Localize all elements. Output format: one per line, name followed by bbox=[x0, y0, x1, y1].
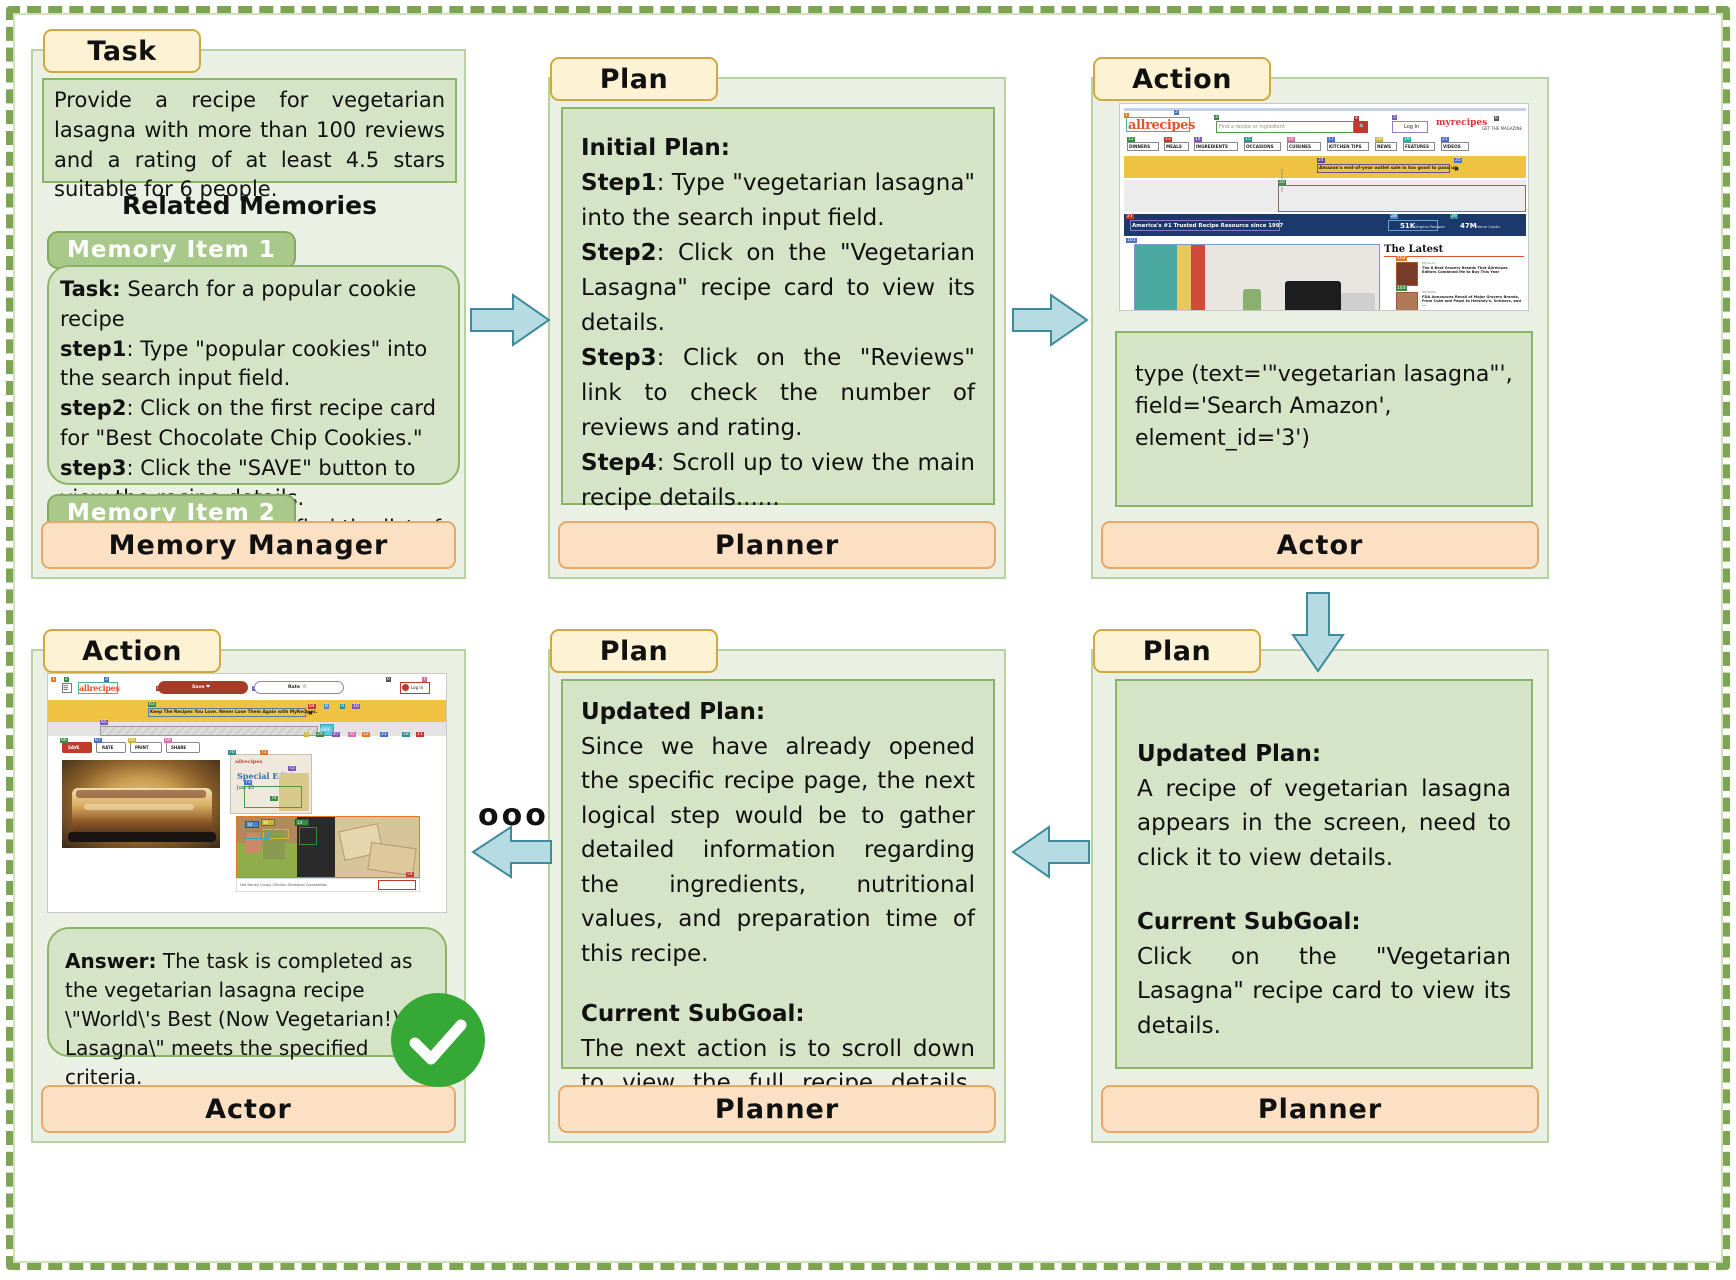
answer-label: Answer: bbox=[65, 949, 157, 973]
screenshot-allrecipes-home[interactable]: 1 2 allrecipes 3 Find a recipe or ingred… bbox=[1119, 103, 1529, 311]
footer-planner-scroll: Planner bbox=[558, 1085, 996, 1133]
recipe-count: 51K bbox=[1400, 222, 1415, 230]
plan-scroll-subgoal-label: Current SubGoal: bbox=[581, 997, 975, 1032]
memory-item-1-chip[interactable]: Memory Item 1 bbox=[47, 231, 296, 269]
task-description-text: Provide a recipe for vegetarian lasagna … bbox=[54, 86, 445, 205]
actor-type-module: Action 1 2 allrecipes 3 Find a recipe or… bbox=[1091, 77, 1549, 579]
memory-1-step-3-label: step3 bbox=[60, 456, 126, 480]
arrow-action-to-plan-down bbox=[1289, 591, 1347, 675]
plan-click-updated-label: Updated Plan: bbox=[1137, 737, 1511, 772]
footer-actor-type: Actor bbox=[1101, 521, 1539, 569]
task-description-panel: Provide a recipe for vegetarian lasagna … bbox=[42, 78, 457, 183]
footer-planner-initial: Planner bbox=[558, 521, 996, 569]
memory-1-step-2-label: step2 bbox=[60, 396, 126, 420]
recipe-count-sub: Original Recipes bbox=[1414, 224, 1445, 229]
arrow-plan3-to-plan2 bbox=[1011, 823, 1091, 881]
plan-scroll-updated-label: Updated Plan: bbox=[581, 695, 975, 730]
tab-action-answer: Action bbox=[43, 629, 221, 673]
initial-plan-heading: Initial Plan: bbox=[581, 131, 975, 166]
annotation-tag: 6 bbox=[1494, 116, 1499, 121]
magazine-logo: myrecipes bbox=[1436, 118, 1487, 128]
memory-item-1-panel: Task: Search for a popular cookie recipe… bbox=[47, 265, 460, 485]
promo-text[interactable]: Amazon's end-of-year outlet sale is too … bbox=[1319, 166, 1459, 171]
star-icon: ☆ bbox=[302, 684, 307, 690]
nav-item[interactable]: NEWS bbox=[1377, 144, 1391, 149]
badge: RECALLS bbox=[1422, 261, 1435, 265]
screenshot-recipe-page[interactable]: 1 2 ☰ 3 allrecipes 4 Save ❤ 5 Rate ☆ 6 7… bbox=[47, 673, 447, 913]
tab-plan-initial: Plan bbox=[550, 57, 718, 101]
initial-plan-step-1: Step1: Type "vegetarian lasagna" into th… bbox=[581, 166, 975, 236]
related-memories-heading: Related Memories bbox=[42, 191, 457, 220]
memory-1-task-label: Task: bbox=[60, 277, 121, 301]
plan-click-subgoal-text: Click on the "Vegetarian Lasagna" recipe… bbox=[1137, 940, 1511, 1044]
ad-caption: Hot Honey Crispy Chicken Sheetpan Quesad… bbox=[240, 883, 327, 887]
action-code-panel: type (text='"vegetarian lasagna"', field… bbox=[1115, 331, 1533, 507]
footer-memory-manager: Memory Manager bbox=[41, 521, 456, 569]
memory-1-task-line: Task: Search for a popular cookie recipe bbox=[60, 275, 447, 335]
memory-1-step-1-label: step1 bbox=[60, 337, 126, 361]
check-circle-icon bbox=[391, 993, 485, 1087]
initial-plan-panel: Initial Plan: Step1: Type "vegetarian la… bbox=[561, 107, 995, 505]
arrow-plan2-to-action2 bbox=[469, 823, 553, 881]
footer-planner-click: Planner bbox=[1101, 1085, 1539, 1133]
tab-action-type: Action bbox=[1093, 57, 1271, 101]
close-icon[interactable]: ✖ bbox=[1454, 166, 1459, 173]
diagram-frame: ooo Task Provide a recipe for vegetarian… bbox=[6, 6, 1730, 1270]
arrow-plan-to-action bbox=[1011, 291, 1091, 349]
answer-panel: Answer: The task is completed as the veg… bbox=[47, 927, 447, 1057]
login-label: Log In bbox=[411, 685, 423, 690]
heart-icon: ❤ bbox=[206, 684, 210, 690]
planner-scroll-module: Plan Updated Plan: Since we have already… bbox=[548, 649, 1006, 1143]
plan-click-updated-text: A recipe of vegetarian lasagna appears i… bbox=[1137, 772, 1511, 876]
tab-task: Task bbox=[43, 29, 201, 73]
annotation-tag: 5 bbox=[1392, 115, 1397, 120]
nav-item[interactable]: VIDEOS bbox=[1443, 144, 1461, 149]
hero-title: The Latest bbox=[1384, 244, 1443, 255]
plan-click-subgoal-label: Current SubGoal: bbox=[1137, 905, 1511, 940]
close-icon[interactable]: ✖ bbox=[308, 710, 313, 717]
updated-plan-click-panel: Updated Plan: A recipe of vegetarian las… bbox=[1115, 679, 1533, 1069]
nav-item[interactable]: KITCHEN TIPS bbox=[1329, 144, 1362, 149]
login-label: Log In bbox=[1404, 124, 1419, 130]
memory-manager-module: Task Provide a recipe for vegetarian las… bbox=[31, 49, 466, 579]
search-placeholder: Find a recipe or ingredient bbox=[1219, 124, 1285, 130]
planner-initial-module: Plan Initial Plan: Step1: Type "vegetari… bbox=[548, 77, 1006, 579]
member-count: 47M bbox=[1460, 222, 1477, 230]
nav-item[interactable]: OCCASIONS bbox=[1246, 144, 1274, 149]
plan-scroll-updated-text: Since we have already opened the specifi… bbox=[581, 730, 975, 972]
arrow-task-to-plan bbox=[469, 291, 553, 349]
recipe-photo bbox=[62, 760, 220, 848]
initial-plan-step-2: Step2: Click on the "Vegetarian Lasagna"… bbox=[581, 236, 975, 341]
allrecipes-logo: allrecipes bbox=[79, 683, 120, 693]
planner-click-module: Plan Updated Plan: A recipe of vegetaria… bbox=[1091, 649, 1549, 1143]
tab-plan-click: Plan bbox=[1093, 629, 1261, 673]
memory-1-step-1: step1: Type "popular cookies" into the s… bbox=[60, 335, 447, 395]
annotation-tag: 3 bbox=[1214, 115, 1219, 120]
action-code-text: type (text='"vegetarian lasagna"', field… bbox=[1135, 359, 1513, 455]
annotation-tag: 2 bbox=[1174, 110, 1179, 115]
nav-item[interactable]: DINNERS bbox=[1129, 144, 1150, 149]
badge: REVIEWS bbox=[1422, 290, 1436, 294]
banner-text[interactable]: Keep The Recipes You Love. Never Lose Th… bbox=[150, 710, 317, 715]
nav-item[interactable]: INGREDIENTS bbox=[1196, 144, 1228, 149]
trust-line: America's #1 Trusted Recipe Resource sin… bbox=[1132, 223, 1283, 229]
nav-item[interactable]: CUISINES bbox=[1289, 144, 1311, 149]
article-card-title[interactable]: FDA Announces Recall of Major Grocery Br… bbox=[1422, 295, 1522, 307]
nav-item[interactable]: MEALS bbox=[1166, 144, 1182, 149]
avatar bbox=[402, 684, 409, 691]
article-card-title[interactable]: The 8 Best Grocery Brands That Allrecipe… bbox=[1422, 266, 1522, 274]
nav-item[interactable]: FEATURES bbox=[1405, 144, 1429, 149]
allrecipes-logo: allrecipes bbox=[1128, 118, 1195, 133]
save-label: Save bbox=[192, 685, 205, 690]
memory-1-step-2: step2: Click on the first recipe card fo… bbox=[60, 394, 447, 454]
footer-actor-answer: Actor bbox=[41, 1085, 456, 1133]
video-ad[interactable]: 18 19 14 bbox=[236, 816, 420, 878]
tab-plan-scroll: Plan bbox=[550, 629, 718, 673]
updated-plan-scroll-panel: Updated Plan: Since we have already open… bbox=[561, 679, 995, 1069]
initial-plan-step-3: Step3: Click on the "Reviews" link to ch… bbox=[581, 341, 975, 446]
member-count-sub: Home Cooks bbox=[1476, 224, 1500, 229]
rate-label: Rate bbox=[288, 685, 300, 690]
answer-text-line: Answer: The task is completed as the veg… bbox=[65, 947, 429, 1092]
initial-plan-step-4: Step4: Scroll up to view the main recipe… bbox=[581, 446, 975, 516]
